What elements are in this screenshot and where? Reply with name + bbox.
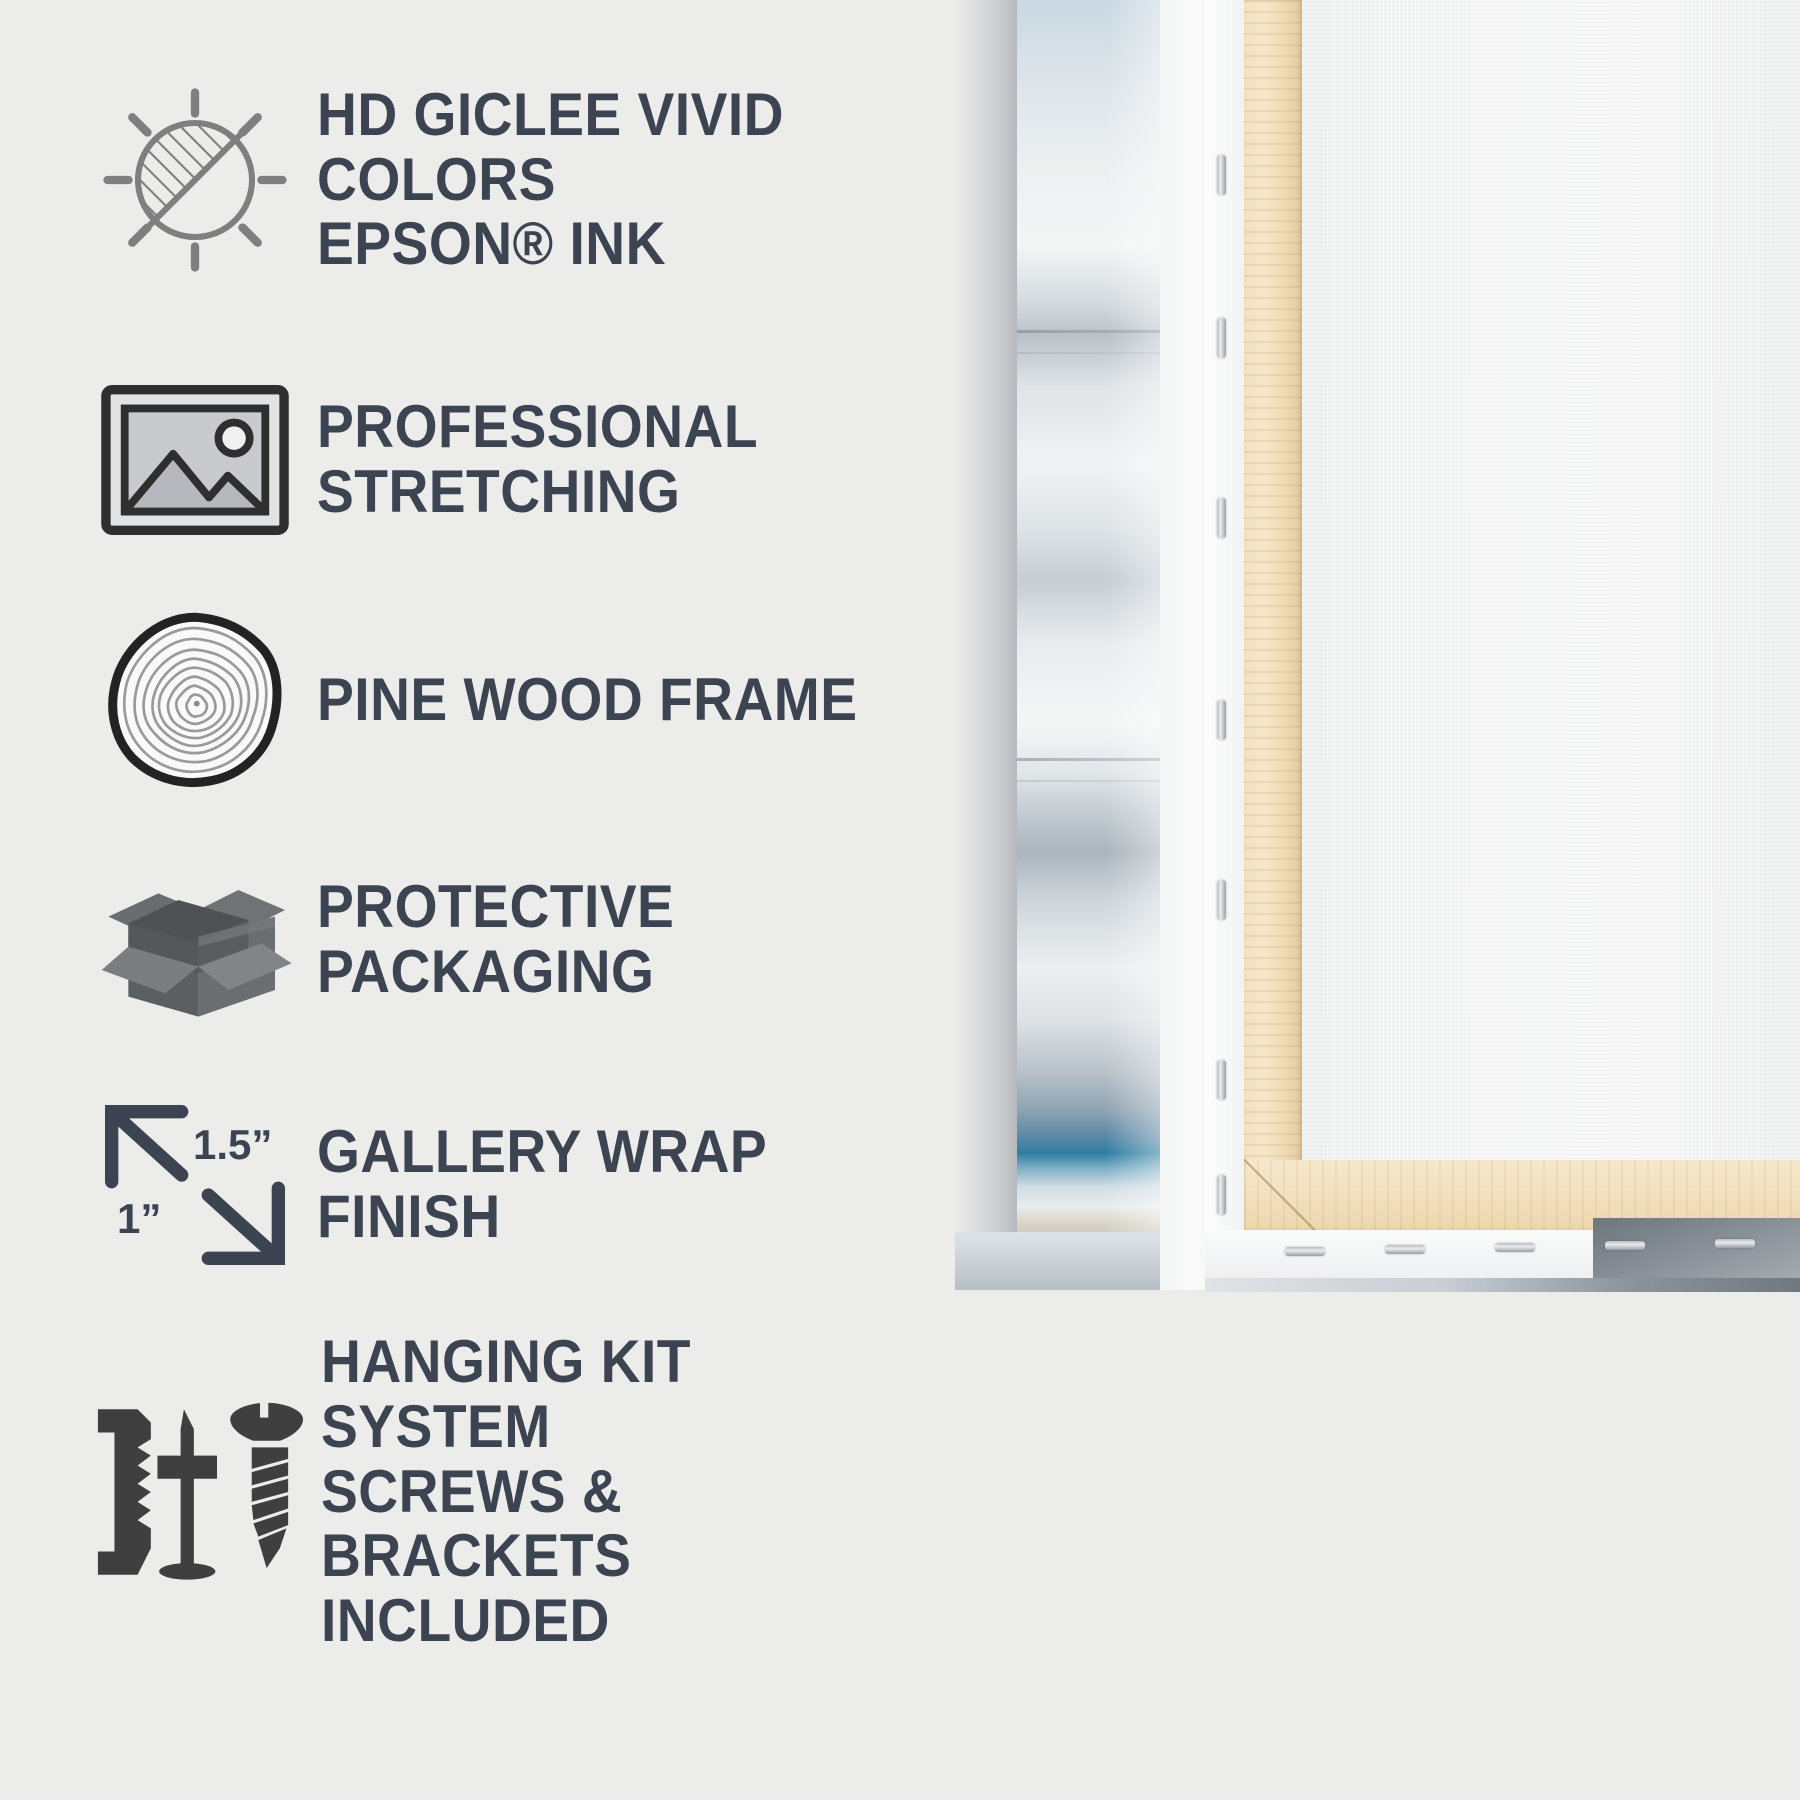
product-photo <box>955 0 1800 1800</box>
sun-icon <box>95 80 295 280</box>
feature-label-professional-stretching: PROFESSIONAL STRETCHING <box>317 395 922 525</box>
wrap-depth-arrows-icon: 1.5” 1” <box>95 1085 295 1285</box>
feature-row-protective-packaging: PROTECTIVE PACKAGING <box>95 840 975 1040</box>
staple <box>1217 700 1226 740</box>
feature-label-hanging-kit: HANGING KIT SYSTEM SCREWS & BRACKETS INC… <box>321 1330 935 1654</box>
pine-stretcher-bar-vertical <box>1244 0 1302 1230</box>
feature-row-hanging-kit: HANGING KIT SYSTEM SCREWS & BRACKETS INC… <box>88 1330 988 1654</box>
staple <box>1217 880 1226 920</box>
hardware-icon <box>88 1377 303 1607</box>
staple <box>1217 498 1226 538</box>
depth-bottom-value: 1” <box>117 1195 161 1243</box>
screw-icon <box>230 1401 303 1568</box>
feature-row-professional-stretching: PROFESSIONAL STRETCHING <box>95 360 975 560</box>
picture-frame-icon <box>95 360 295 560</box>
staple <box>1217 1060 1226 1100</box>
feature-label-hd-giclee: HD GICLEE VIVID COLORS EPSON® INK <box>317 83 922 277</box>
feature-label-pine-wood-frame: PINE WOOD FRAME <box>317 668 858 733</box>
staple <box>1495 1243 1535 1252</box>
staple <box>1605 1241 1645 1250</box>
feature-row-gallery-wrap-finish: 1.5” 1” GALLERY WRAP FINISH <box>95 1085 975 1285</box>
photo-bottom-edge <box>1205 1278 1800 1292</box>
staple <box>1285 1247 1325 1256</box>
cardboard-box-icon <box>95 840 295 1040</box>
feature-infographic: HD GICLEE VIVID COLORS EPSON® INK PROFES… <box>0 0 1800 1800</box>
feature-label-protective-packaging: PROTECTIVE PACKAGING <box>317 875 922 1005</box>
staple <box>1217 155 1226 195</box>
mitre-joint <box>1244 1158 1326 1240</box>
staple <box>1385 1245 1425 1254</box>
feature-label-gallery-wrap-finish: GALLERY WRAP FINISH <box>317 1120 922 1250</box>
feature-row-pine-wood-frame: PINE WOOD FRAME <box>95 600 975 800</box>
staple <box>1217 318 1226 358</box>
staple <box>1715 1239 1755 1248</box>
feature-row-hd-giclee: HD GICLEE VIVID COLORS EPSON® INK <box>95 80 975 280</box>
tree-rings-icon <box>95 600 295 800</box>
nail-icon <box>157 1409 217 1579</box>
sawtooth-bracket-icon <box>98 1409 151 1574</box>
staple <box>1217 1175 1226 1215</box>
depth-top-value: 1.5” <box>193 1121 272 1169</box>
